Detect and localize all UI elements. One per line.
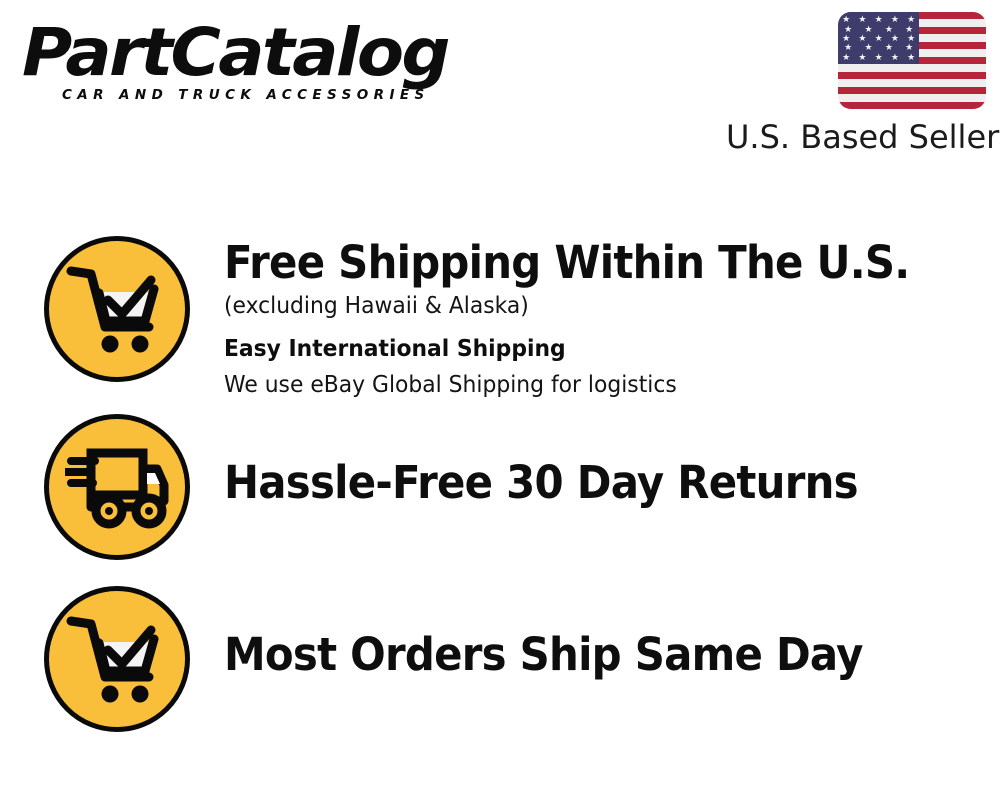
seller-label: U.S. Based Seller (726, 120, 986, 155)
flag-star-row: ★★★★★ (838, 53, 919, 62)
flag-stripe (838, 87, 986, 94)
feature-subtext: (excluding Hawaii & Alaska) (224, 292, 961, 321)
promo-banner: PartCatalog CAR AND TRUCK ACCESSORIES ★★… (0, 0, 1000, 800)
feature-heading: Hassle-Free 30 Day Returns (224, 460, 946, 506)
shopping-cart-check-icon (44, 586, 190, 732)
feature-text-returns: Hassle-Free 30 Day Returns (190, 414, 1000, 506)
feature-heading: Most Orders Ship Same Day (224, 632, 946, 678)
brand-logo: PartCatalog CAR AND TRUCK ACCESSORIES (22, 22, 492, 103)
us-flag-icon: ★★★★★ ★★★★ ★★★★★ ★★★★ ★★★★★ (838, 12, 986, 109)
brand-wordmark: PartCatalog (22, 22, 511, 85)
feature-list: Free Shipping Within The U.S. (excluding… (0, 236, 1000, 756)
flag-stripe (838, 102, 986, 109)
feature-heading: Free Shipping Within The U.S. (224, 240, 946, 286)
shopping-cart-check-icon (44, 236, 190, 382)
us-based-seller-badge: ★★★★★ ★★★★ ★★★★★ ★★★★ ★★★★★ U.S. Based S… (726, 12, 986, 155)
flag-star-row: ★★★★★ (838, 15, 919, 24)
flag-star-row: ★★★★ (838, 43, 919, 52)
feature-row-free-shipping: Free Shipping Within The U.S. (excluding… (0, 236, 1000, 414)
feature-subtext-secondary: We use eBay Global Shipping for logistic… (224, 371, 961, 400)
feature-subtext-strong: Easy International Shipping (224, 335, 961, 365)
flag-stripe (838, 72, 986, 79)
feature-text-same-day: Most Orders Ship Same Day (190, 586, 1000, 678)
delivery-truck-icon (44, 414, 190, 560)
flag-canton: ★★★★★ ★★★★ ★★★★★ ★★★★ ★★★★★ (838, 12, 919, 64)
feature-row-returns: Hassle-Free 30 Day Returns (0, 414, 1000, 586)
feature-text-free-shipping: Free Shipping Within The U.S. (excluding… (190, 236, 1000, 399)
feature-row-same-day-shipping: Most Orders Ship Same Day (0, 586, 1000, 756)
